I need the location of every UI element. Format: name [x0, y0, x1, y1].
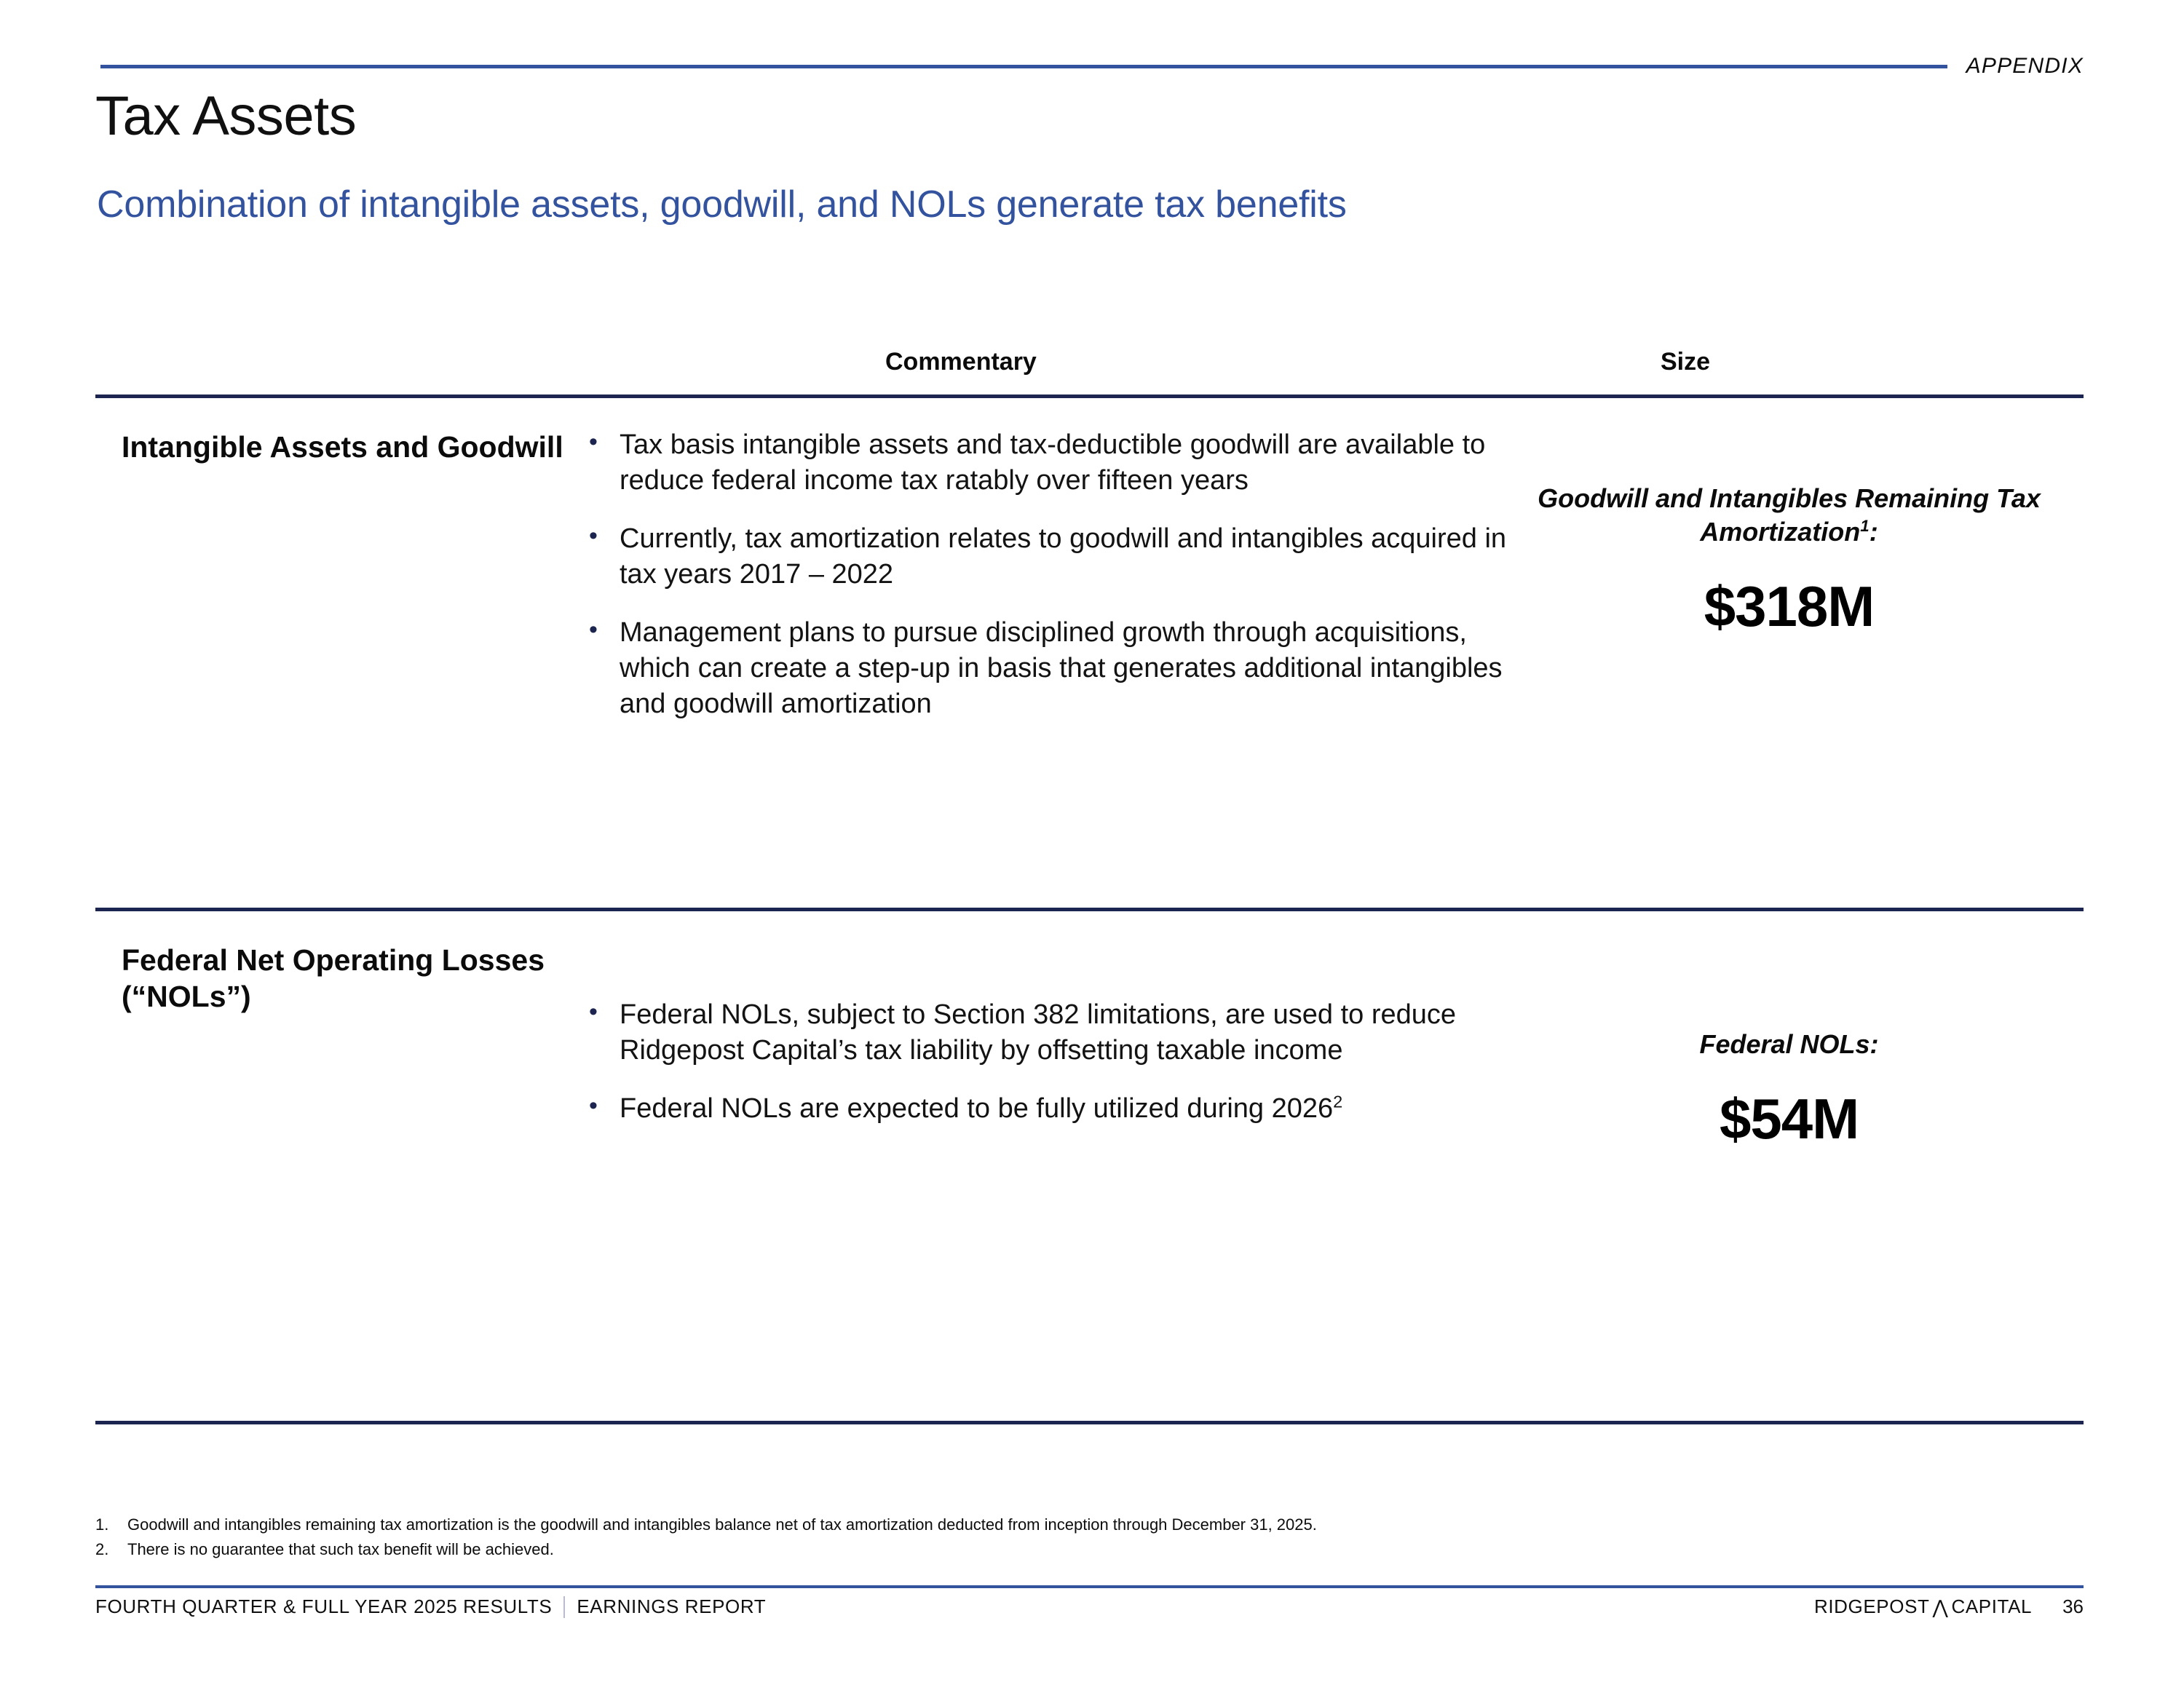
logo-text-first: RIDGEPOST — [1814, 1595, 1930, 1618]
footer-left: FOURTH QUARTER & FULL YEAR 2025 RESULTS … — [95, 1595, 766, 1618]
tax-assets-table: Commentary Size Intangible Assets and Go… — [95, 328, 2084, 1424]
table-rule-bottom — [95, 1421, 2084, 1424]
header-rule — [100, 65, 1947, 68]
footnote-number: 1. — [95, 1512, 127, 1537]
footnotes: 1. Goodwill and intangibles remaining ta… — [95, 1512, 2083, 1562]
logo-text-second: CAPITAL — [1951, 1595, 2032, 1618]
appendix-label: APPENDIX — [1966, 54, 2084, 79]
footer-rule — [95, 1585, 2084, 1588]
row-label-federal-net-operating-losses: Federal Net Operating Losses (“NOLs”) — [95, 911, 583, 1421]
table-row: Federal Net Operating Losses (“NOLs”) Fe… — [95, 911, 2084, 1421]
footnote-1: 1. Goodwill and intangibles remaining ta… — [95, 1512, 2083, 1537]
table-row: Intangible Assets and Goodwill Tax basis… — [95, 398, 2084, 908]
list-item: Management plans to pursue disciplined g… — [583, 615, 1508, 723]
footer-report-type: EARNINGS REPORT — [577, 1595, 766, 1618]
footnote-number: 2. — [95, 1537, 127, 1562]
commentary-list-intangible-assets: Tax basis intangible assets and tax-dedu… — [583, 398, 1508, 908]
size-value-federal-nols: $54M — [1508, 1086, 2070, 1152]
footer-right: RIDGEPOST ⋀ CAPITAL 36 — [1814, 1595, 2084, 1618]
list-item: Federal NOLs are expected to be fully ut… — [583, 1091, 1508, 1127]
table-column-headers: Commentary Size — [95, 328, 2084, 395]
page-subtitle: Combination of intangible assets, goodwi… — [97, 185, 1347, 225]
appendix-header-bar: APPENDIX — [100, 58, 2084, 74]
size-cell-federal-nols: Federal NOLs: $54M — [1508, 911, 2084, 1421]
column-header-commentary: Commentary — [885, 348, 1037, 376]
row-label-intangible-assets-and-goodwill: Intangible Assets and Goodwill — [95, 398, 583, 908]
footer: FOURTH QUARTER & FULL YEAR 2025 RESULTS … — [95, 1595, 2084, 1618]
list-item: Tax basis intangible assets and tax-dedu… — [583, 427, 1508, 499]
page-title: Tax Assets — [95, 89, 356, 144]
footnote-text: There is no guarantee that such tax bene… — [127, 1537, 554, 1562]
size-cell-intangible-assets: Goodwill and Intangibles Remaining Tax A… — [1508, 398, 2084, 908]
size-caption: Federal NOLs: — [1508, 1028, 2070, 1061]
commentary-list-federal-nols: Federal NOLs, subject to Section 382 lim… — [583, 911, 1508, 1421]
list-item: Currently, tax amortization relates to g… — [583, 521, 1508, 593]
size-caption: Goodwill and Intangibles Remaining Tax A… — [1508, 482, 2070, 549]
footnote-marker-1: 1 — [1860, 517, 1869, 535]
list-item: Federal NOLs, subject to Section 382 lim… — [583, 997, 1508, 1069]
footer-divider-icon — [563, 1596, 565, 1618]
size-value-goodwill-intangibles: $318M — [1508, 574, 2070, 640]
page-number: 36 — [2062, 1595, 2084, 1618]
footnote-marker-2: 2 — [1333, 1092, 1342, 1111]
chevron-up-icon: ⋀ — [1933, 1598, 1949, 1617]
company-logo: RIDGEPOST ⋀ CAPITAL — [1814, 1595, 2032, 1618]
column-header-size: Size — [1661, 348, 1710, 376]
footer-report-title: FOURTH QUARTER & FULL YEAR 2025 RESULTS — [95, 1595, 552, 1618]
footnote-2: 2. There is no guarantee that such tax b… — [95, 1537, 2083, 1562]
footnote-text: Goodwill and intangibles remaining tax a… — [127, 1512, 1317, 1537]
